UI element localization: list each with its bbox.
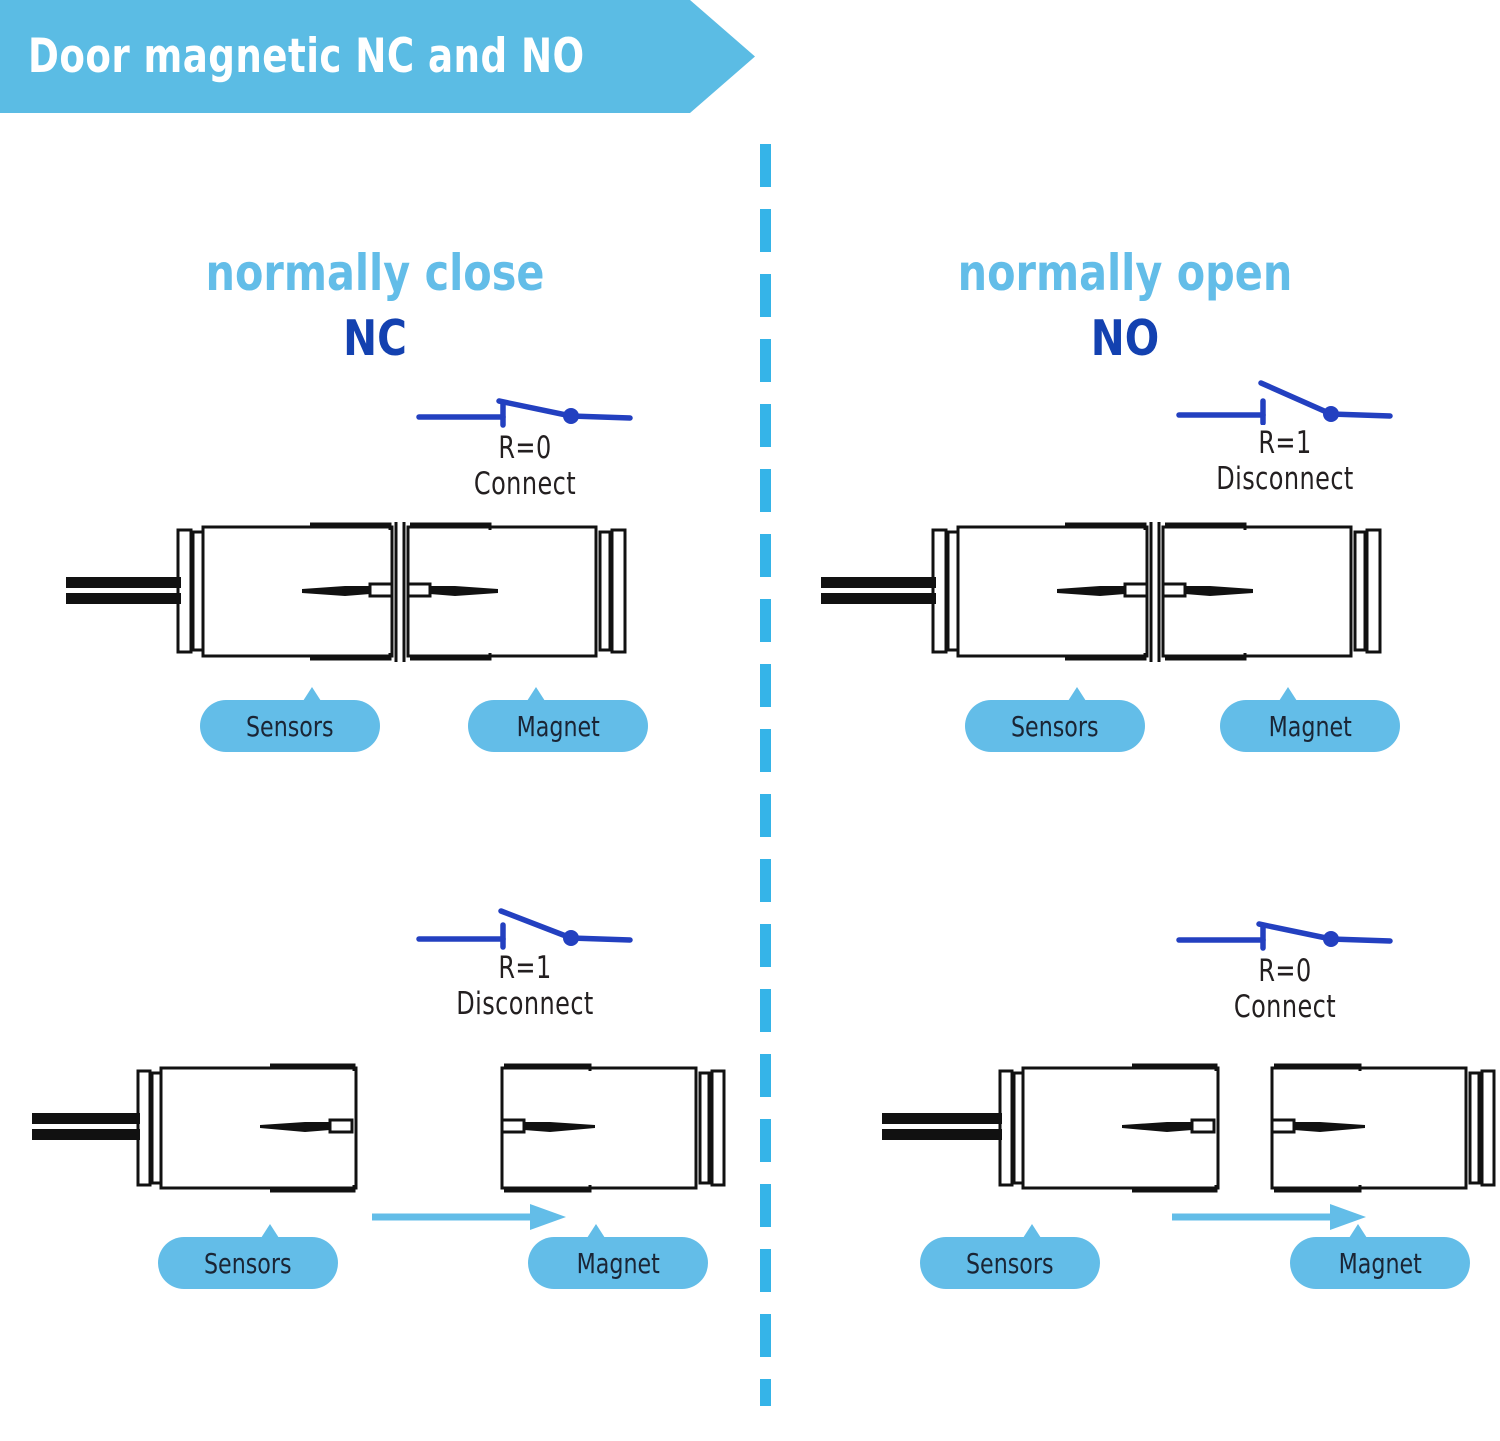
- callout-label: Sensors: [204, 1247, 292, 1280]
- nc-open-magnet-device: [490, 1055, 750, 1210]
- nc-closed-status: Connect: [379, 466, 671, 502]
- sensor-device-icon: [882, 1055, 1242, 1205]
- callout-magnet-no-top: Magnet: [1220, 700, 1400, 752]
- callout-label: Magnet: [516, 710, 599, 743]
- no-heading-abbr: NO: [780, 310, 1470, 367]
- callout-sensors-nc-top: Sensors: [200, 700, 380, 752]
- no-closed-sensor-device: [882, 1055, 1242, 1210]
- callout-label: Magnet: [576, 1247, 659, 1280]
- nc-open-switch-block: R=1 Disconnect: [355, 905, 695, 1022]
- no-closed-status: Connect: [1139, 989, 1431, 1025]
- no-heading-main: normally open: [780, 244, 1470, 302]
- callout-magnet-nc-top: Magnet: [468, 700, 648, 752]
- callout-magnet-nc-bottom: Magnet: [528, 1237, 708, 1289]
- callout-label: Magnet: [1268, 710, 1351, 743]
- no-open-resistance: R=1: [1139, 425, 1431, 461]
- switch-open-icon: [1175, 375, 1395, 425]
- switch-closed-icon: [415, 385, 635, 430]
- callout-label: Magnet: [1338, 1247, 1421, 1280]
- magnet-device-icon: [1260, 1055, 1500, 1205]
- nc-open-status: Disconnect: [379, 986, 671, 1022]
- callout-sensors-no-bottom: Sensors: [920, 1237, 1100, 1289]
- page-title: Door magnetic NC and NO: [28, 0, 585, 113]
- callout-label: Sensors: [966, 1247, 1054, 1280]
- nc-open-sensor-device: [20, 1055, 380, 1210]
- no-separation-arrow: [1170, 1200, 1370, 1234]
- nc-closed-resistance: R=0: [379, 430, 671, 466]
- callout-magnet-no-bottom: Magnet: [1290, 1237, 1470, 1289]
- no-closed-magnet-device: [1260, 1055, 1500, 1210]
- callout-label: Sensors: [246, 710, 334, 743]
- nc-heading-main: normally close: [30, 244, 720, 302]
- nc-heading-abbr: NC: [30, 310, 720, 367]
- callout-sensors-no-top: Sensors: [965, 700, 1145, 752]
- switch-open-icon: [415, 905, 635, 950]
- callout-label: Sensors: [1011, 710, 1099, 743]
- sensor-magnet-pair-together-icon: [40, 510, 680, 675]
- no-closed-switch-block: R=0 Connect: [1115, 908, 1455, 1025]
- sensor-device-icon: [20, 1055, 380, 1205]
- vertical-dashed-divider: [760, 144, 771, 1406]
- nc-closed-switch-block: R=0 Connect: [355, 385, 695, 502]
- no-open-switch-block: R=1 Disconnect: [1115, 375, 1455, 497]
- no-open-status: Disconnect: [1139, 461, 1431, 497]
- no-closed-resistance: R=0: [1139, 953, 1431, 989]
- header-banner: Door magnetic NC and NO: [0, 0, 760, 113]
- nc-separation-arrow: [370, 1200, 570, 1234]
- no-open-device-assembly: [795, 510, 1435, 680]
- magnet-device-icon: [490, 1055, 750, 1205]
- nc-open-resistance: R=1: [379, 950, 671, 986]
- sensor-magnet-pair-together-icon: [795, 510, 1435, 675]
- switch-closed-icon: [1175, 908, 1395, 953]
- callout-sensors-nc-bottom: Sensors: [158, 1237, 338, 1289]
- nc-closed-device-assembly: [40, 510, 680, 680]
